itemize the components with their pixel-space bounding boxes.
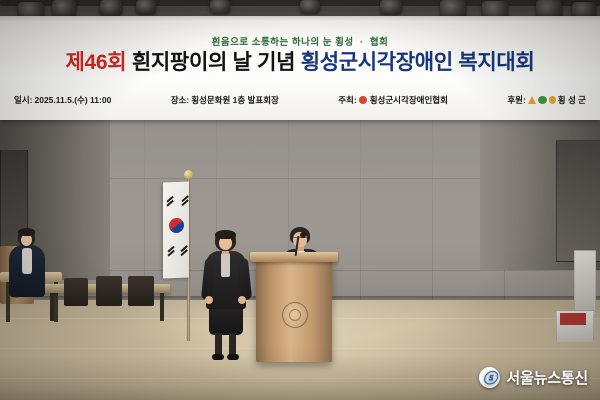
banner-info-date: 일시: 2025.11.5.(수) 11:00 xyxy=(14,94,111,106)
event-banner: 흰음으로 소통하는 하나의 눈 횡성 · 협회 제46회 흰지팡이의 날 기념 … xyxy=(0,16,600,120)
host-logo-icon xyxy=(359,96,367,104)
stage-chair xyxy=(96,276,122,306)
banner-title-part4: 횡성군시각장애인 복지대회 xyxy=(301,51,535,74)
banner-host-label: 주최: xyxy=(338,94,356,106)
seated-woman-inner-shirt xyxy=(22,248,32,274)
table-leg xyxy=(160,293,164,321)
stage-spotlight xyxy=(300,0,320,13)
banner-sponsor-label: 후원: xyxy=(507,94,525,106)
banner-title: 제46회 흰지팡이의 날 기념 횡성군시각장애인 복지대회 xyxy=(0,46,600,76)
banner-sponsor-value: 횡 성 군 xyxy=(558,94,586,106)
woman-speaker-fringe xyxy=(215,230,236,239)
man-speaker-glasses-icon xyxy=(293,237,307,242)
stage-spotlight xyxy=(210,0,230,13)
woman-speaker-skirt xyxy=(209,305,243,335)
watermark-text: 서울뉴스통신 xyxy=(506,367,588,388)
side-door xyxy=(556,140,600,262)
banner-title-part2: 흰지팡이의 날 xyxy=(132,51,252,74)
seated-woman-hair xyxy=(18,228,35,236)
banner-place-value: 횡성문화원 1층 발표회장 xyxy=(191,94,279,106)
woman-speaker-hand xyxy=(205,296,213,304)
banner-info-place: 장소: 횡성문화원 1층 발표회장 xyxy=(171,94,279,106)
banner-info-sponsor: 후원: 횡 성 군 xyxy=(507,94,586,106)
banner-date-label: 일시: xyxy=(14,94,32,106)
stage-spotlight xyxy=(136,0,156,14)
banner-place-label: 장소: xyxy=(171,94,189,106)
woman-speaker-collar xyxy=(221,253,230,277)
banner-info-host: 주최: 횡성군시각장애인협회 xyxy=(338,94,448,106)
sponsor-logo-leaf-icon xyxy=(538,96,547,104)
podium-microphone xyxy=(300,232,306,238)
korean-national-flag xyxy=(163,182,189,279)
banner-title-part3: 기념 xyxy=(257,51,295,74)
stage-chair xyxy=(64,278,88,306)
table-leg xyxy=(50,293,54,321)
woman-speaker-hand xyxy=(238,296,246,304)
banner-info-row: 일시: 2025.11.5.(수) 11:00 장소: 횡성문화원 1층 발표회… xyxy=(14,94,586,106)
watermark-logo-icon: ⓢ xyxy=(479,367,500,388)
flag-finial xyxy=(184,170,193,179)
right-banner-stand xyxy=(574,250,596,314)
sponsor-logo-triangle-icon xyxy=(528,96,536,104)
banner-top-strip xyxy=(0,16,600,21)
sponsor-logo-seed-icon xyxy=(549,96,556,104)
stage-spotlight xyxy=(380,0,402,14)
banner-title-part1: 제46회 xyxy=(66,51,127,74)
event-photo: 흰음으로 소통하는 하나의 눈 횡성 · 협회 제46회 흰지팡이의 날 기념 … xyxy=(0,0,600,400)
taegeuk-icon xyxy=(169,218,184,234)
woman-speaker-shoe xyxy=(227,354,239,360)
podium-emblem-icon xyxy=(282,302,308,328)
banner-host-value: 횡성군시각장애인협회 xyxy=(370,94,448,106)
banner-date-value: 2025.11.5.(수) 11:00 xyxy=(34,94,111,106)
woman-speaker-shoe xyxy=(212,354,224,360)
watermark: ⓢ 서울뉴스통신 xyxy=(479,367,588,388)
right-prop-box-label xyxy=(560,313,586,325)
stage-chair xyxy=(128,276,154,306)
